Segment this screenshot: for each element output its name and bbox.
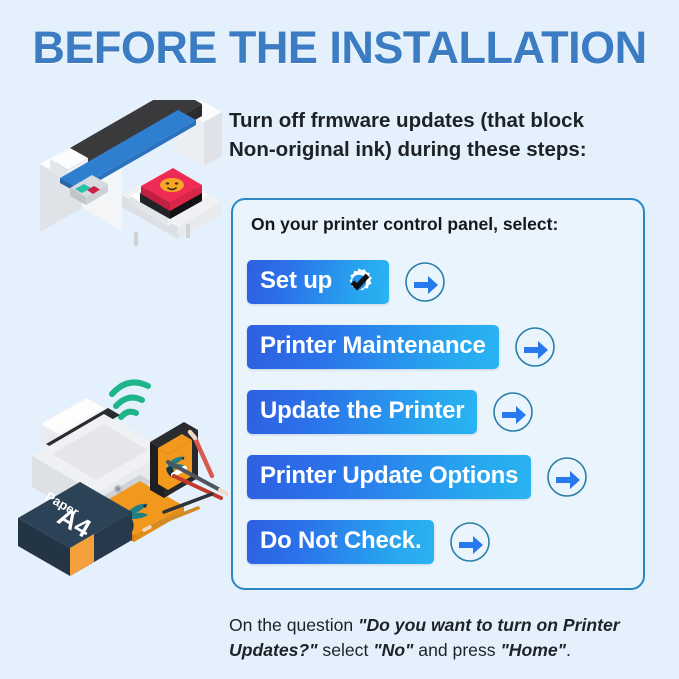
footer-part-4: . bbox=[566, 640, 571, 660]
step-row: Printer Update Options bbox=[247, 451, 637, 503]
step-button-label: Printer Update Options bbox=[260, 464, 518, 488]
arrow-right-circle-icon bbox=[514, 326, 556, 368]
step-button-printer-update-options[interactable]: Printer Update Options bbox=[247, 455, 531, 499]
step-button-label: Do Not Check. bbox=[260, 529, 421, 553]
flatbed-dtg-printer-illustration bbox=[26, 100, 232, 260]
footer-part-2: select bbox=[318, 640, 374, 660]
infographic-page: BEFORE THE INSTALLATION bbox=[0, 0, 679, 679]
intro-line-1: Turn off frmware updates (that block bbox=[229, 106, 649, 135]
step-button-label: Update the Printer bbox=[260, 399, 464, 423]
step-button-label: Printer Maintenance bbox=[260, 334, 486, 358]
footer-part-1: On the question bbox=[229, 615, 358, 635]
footer-part-3: and press bbox=[413, 640, 500, 660]
arrow-right-circle-icon bbox=[449, 521, 491, 563]
step-button-update-the-printer[interactable]: Update the Printer bbox=[247, 390, 477, 434]
arrow-right-circle-icon bbox=[492, 391, 534, 433]
steps-list: Set up bbox=[247, 256, 637, 568]
footer-quote-3: "Home" bbox=[500, 640, 566, 660]
gear-check-icon bbox=[342, 265, 376, 299]
step-row: Do Not Check. bbox=[247, 516, 637, 568]
intro-paragraph: Turn off frmware updates (that block Non… bbox=[229, 106, 649, 164]
steps-panel: On your printer control panel, select: S… bbox=[231, 198, 645, 590]
step-button-printer-maintenance[interactable]: Printer Maintenance bbox=[247, 325, 499, 369]
intro-line-2: Non-original ink) during these steps: bbox=[229, 135, 649, 164]
step-button-set-up[interactable]: Set up bbox=[247, 260, 389, 304]
step-row: Printer Maintenance bbox=[247, 321, 637, 373]
footer-note: On the question "Do you want to turn on … bbox=[229, 613, 654, 663]
step-button-label: Set up bbox=[260, 269, 332, 293]
step-button-do-not-check[interactable]: Do Not Check. bbox=[247, 520, 434, 564]
step-row: Update the Printer bbox=[247, 386, 637, 438]
footer-quote-2: "No" bbox=[373, 640, 413, 660]
step-row: Set up bbox=[247, 256, 637, 308]
arrow-right-circle-icon bbox=[546, 456, 588, 498]
panel-heading: On your printer control panel, select: bbox=[251, 214, 558, 235]
home-printer-wifi-illustration: Paper A4 bbox=[8, 358, 236, 590]
arrow-right-circle-icon bbox=[404, 261, 446, 303]
page-title: BEFORE THE INSTALLATION bbox=[0, 22, 679, 74]
wifi-icon bbox=[112, 382, 148, 417]
